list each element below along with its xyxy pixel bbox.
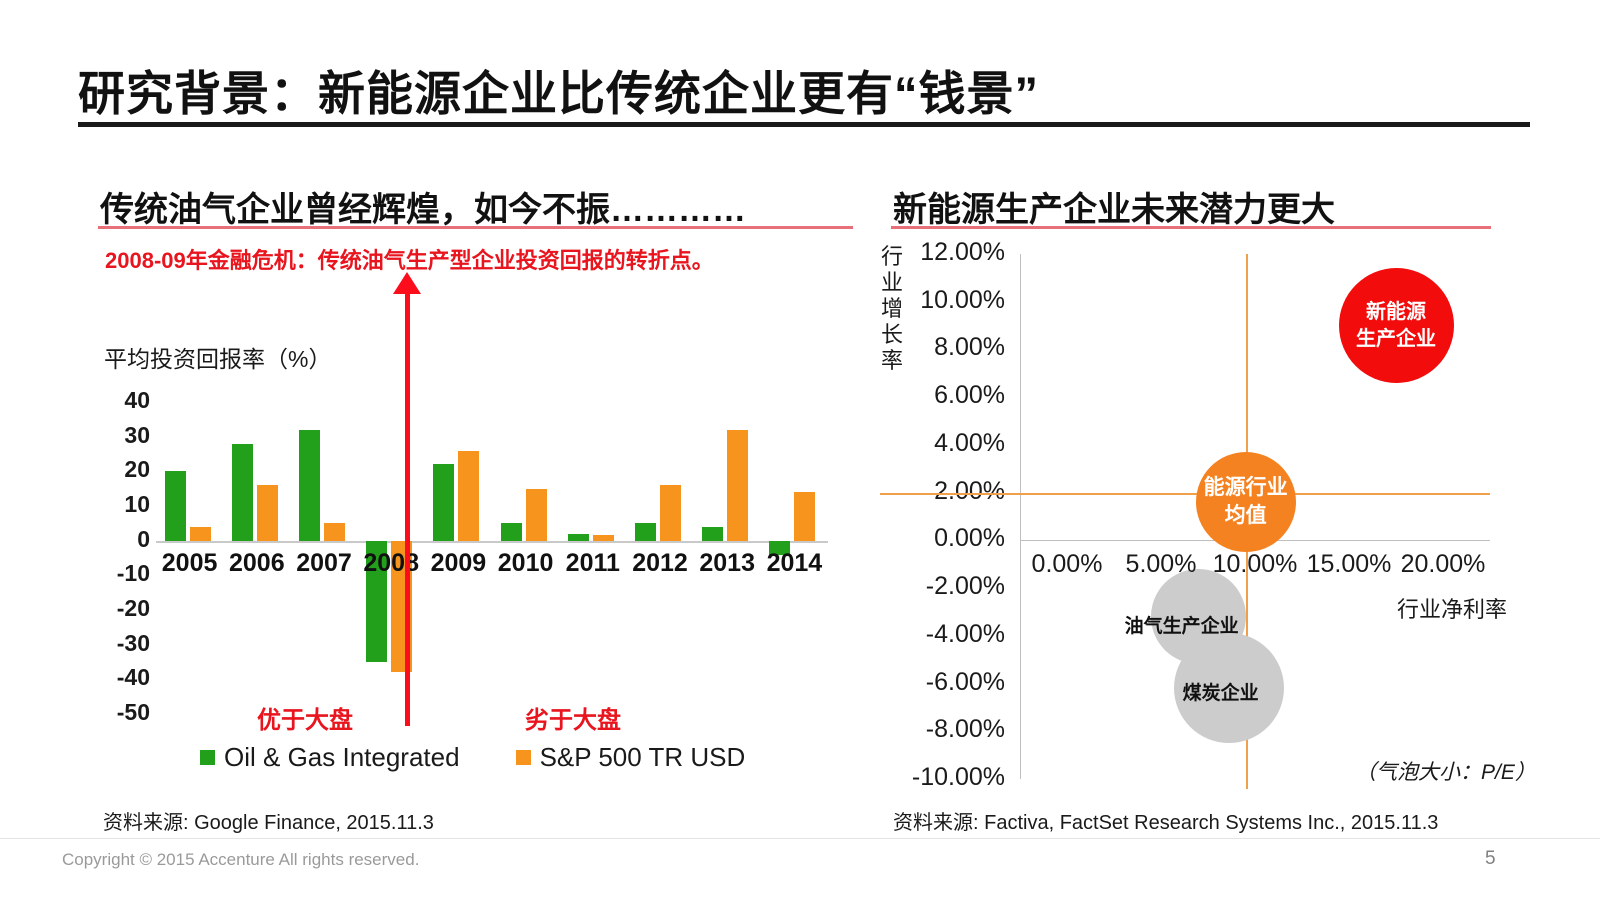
bar-sp500	[526, 489, 547, 541]
bar-y-tick: -20	[98, 595, 150, 622]
bar-x-tick: 2013	[696, 549, 758, 578]
left-panel-heading: 传统油气企业曾经辉煌，如今不振…………	[100, 182, 746, 231]
bubble-label: 煤炭企业	[1183, 678, 1259, 705]
bubble-size-note: （气泡大小：P/E）	[1355, 756, 1536, 786]
bar-sp500	[660, 485, 681, 540]
legend-label: Oil & Gas Integrated	[224, 742, 460, 773]
bubble-y-tick: 10.00%	[880, 286, 1005, 315]
bubble-label-line: 生产企业	[1356, 326, 1436, 353]
bar-sp500	[593, 535, 614, 540]
bar-oil-gas	[568, 534, 589, 541]
bubble-y-tick: -2.00%	[880, 572, 1005, 601]
legend-item: S&P 500 TR USD	[516, 742, 746, 773]
bar-x-tick: 2006	[226, 549, 288, 578]
page-number: 5	[1485, 848, 1496, 870]
bubble-chart-y-axis-line	[1020, 254, 1021, 779]
bubble-chart-avg-growth-line	[880, 493, 1490, 495]
bar-oil-gas	[165, 471, 186, 540]
legend-item: Oil & Gas Integrated	[200, 742, 460, 773]
left-panel-red-note: 2008-09年金融危机：传统油气生产型企业投资回报的转折点。	[105, 243, 714, 275]
right-panel-underline	[891, 226, 1491, 229]
bar-oil-gas	[702, 527, 723, 541]
bar-sp500	[190, 527, 211, 541]
bar-oil-gas	[501, 523, 522, 540]
bar-y-tick: 30	[98, 422, 150, 449]
right-panel-heading: 新能源生产企业未来潜力更大	[893, 182, 1335, 231]
annotation-underperform: 劣于大盘	[525, 700, 621, 735]
bar-chart-legend: Oil & Gas IntegratedS&P 500 TR USD	[200, 742, 745, 773]
bar-y-tick: -30	[98, 630, 150, 657]
bar-y-tick: 10	[98, 491, 150, 518]
bubble-y-tick: 0.00%	[880, 524, 1005, 553]
crisis-arrow-head-icon	[393, 272, 421, 294]
bar-x-tick: 2009	[427, 549, 489, 578]
footer-divider	[0, 838, 1600, 839]
crisis-divider-line	[405, 278, 410, 726]
bar-x-tick: 2005	[159, 549, 221, 578]
bar-x-tick: 2010	[495, 549, 557, 578]
right-source-text: 资料来源: Factiva, FactSet Research Systems …	[893, 806, 1438, 835]
footer-copyright: Copyright © 2015 Accenture All rights re…	[62, 850, 419, 870]
annotation-outperform: 优于大盘	[257, 700, 353, 735]
bubble-label-line: 新能源	[1366, 299, 1426, 326]
bar-y-tick: -50	[98, 699, 150, 726]
bubble-orange: 能源行业均值	[1196, 452, 1296, 552]
legend-swatch-icon	[516, 750, 531, 765]
bar-y-tick: -40	[98, 664, 150, 691]
legend-swatch-icon	[200, 750, 215, 765]
bubble-y-tick: 2.00%	[880, 477, 1005, 506]
bar-sp500	[257, 485, 278, 540]
bar-chart: 平均投资回报率（%） 403020100-10-20-30-40-50 2005…	[98, 340, 838, 770]
bubble-label-line: 均值	[1225, 502, 1267, 530]
bubble-y-tick: 4.00%	[880, 429, 1005, 458]
bar-sp500	[794, 492, 815, 541]
bubble-x-tick: 20.00%	[1383, 550, 1503, 579]
bar-oil-gas	[299, 430, 320, 541]
bubble-y-tick: 12.00%	[880, 238, 1005, 267]
bubble-y-tick: -4.00%	[880, 620, 1005, 649]
page-title: 研究背景：新能源企业比传统企业更有“钱景”	[78, 55, 1039, 124]
title-underline	[78, 122, 1530, 127]
bubble-label-line: 能源行业	[1204, 474, 1288, 502]
bar-oil-gas	[635, 523, 656, 540]
bubble-chart-x-axis-title: 行业净利率	[1397, 592, 1507, 624]
bar-x-tick: 2008	[360, 549, 422, 578]
bubble-y-tick: 8.00%	[880, 333, 1005, 362]
bar-oil-gas	[232, 444, 253, 541]
bar-x-tick: 2012	[629, 549, 691, 578]
bubble-y-tick: -8.00%	[880, 715, 1005, 744]
left-source-text: 资料来源: Google Finance, 2015.11.3	[103, 806, 434, 835]
slide-root: 研究背景：新能源企业比传统企业更有“钱景” 传统油气企业曾经辉煌，如今不振…………	[0, 0, 1600, 899]
bubble-y-tick: -10.00%	[880, 763, 1005, 792]
legend-label: S&P 500 TR USD	[540, 742, 746, 773]
bar-sp500	[324, 523, 345, 540]
bubble-red: 新能源生产企业	[1339, 268, 1454, 383]
bar-x-tick: 2011	[562, 549, 624, 578]
bubble-y-tick: 6.00%	[880, 381, 1005, 410]
bar-y-tick: -10	[98, 560, 150, 587]
bar-chart-axis-title: 平均投资回报率（%）	[104, 340, 331, 374]
bubble-chart: 行业增长率 12.00%10.00%8.00%6.00%4.00%2.00%0.…	[880, 240, 1530, 790]
bubble-chart-plot-area: 新能源生产企业能源行业均值油气生产企业煤炭企业	[1020, 254, 1490, 779]
bubble-y-tick: -6.00%	[880, 668, 1005, 697]
bar-x-tick: 2007	[293, 549, 355, 578]
bar-oil-gas	[433, 464, 454, 540]
bar-y-tick: 0	[98, 526, 150, 553]
left-panel-underline	[98, 226, 853, 229]
bar-y-tick: 20	[98, 456, 150, 483]
bar-sp500	[458, 451, 479, 541]
bar-sp500	[727, 430, 748, 541]
bar-y-tick: 40	[98, 387, 150, 414]
bar-x-tick: 2014	[763, 549, 825, 578]
